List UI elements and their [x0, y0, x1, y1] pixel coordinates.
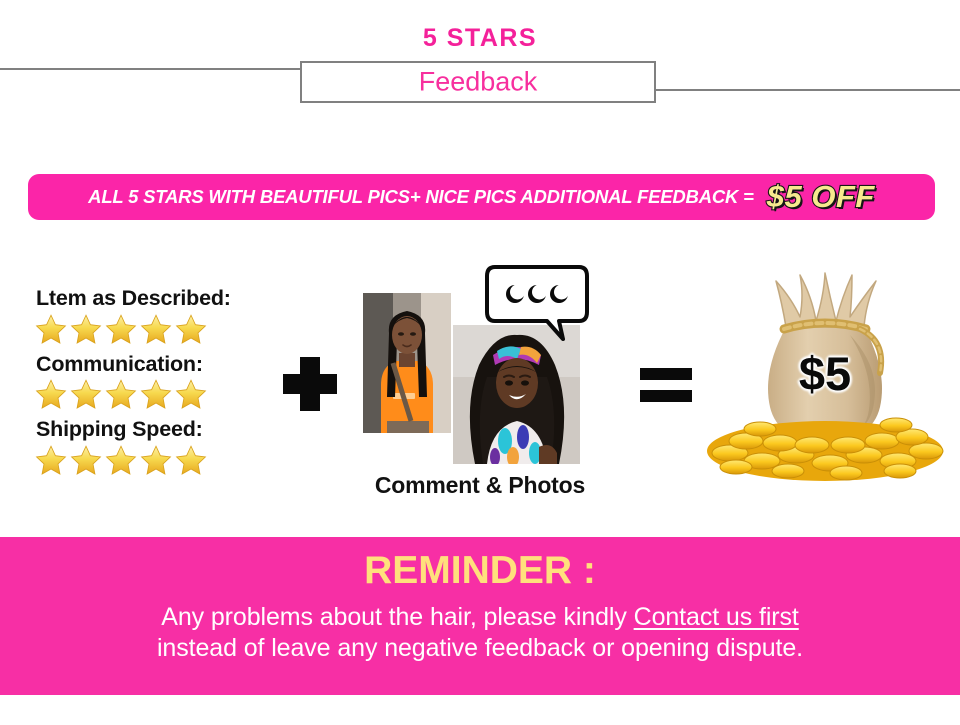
contact-us-first-emphasis: Contact us first — [634, 603, 799, 631]
money-bag-reward: $5 — [700, 255, 950, 485]
feedback-promo-graphic: 5 STARS Feedback ALL 5 STARS WITH BEAUTI… — [0, 0, 960, 725]
promo-banner-text: ALL 5 STARS WITH BEAUTIFUL PICS+ NICE PI… — [88, 186, 754, 208]
star-icon — [139, 378, 173, 411]
collage-caption: Comment & Photos — [330, 472, 630, 499]
photo-collage — [355, 285, 595, 475]
star-icon — [34, 313, 68, 346]
star-icon — [34, 378, 68, 411]
reminder-line-1: Any problems about the hair, please kind… — [0, 602, 960, 633]
header-eyebrow: 5 STARS — [0, 26, 960, 51]
promo-banner-offer: $5 OFF — [767, 179, 875, 215]
reminder-section: REMINDER : Any problems about the hair, … — [0, 537, 960, 695]
header-rule-right — [654, 89, 960, 91]
star-icon — [174, 313, 208, 346]
star-rating — [34, 444, 286, 477]
star-icon — [139, 444, 173, 477]
reminder-line-2: instead of leave any negative feedback o… — [0, 633, 960, 664]
star-icon — [104, 313, 138, 346]
rating-row: Ltem as Described: — [36, 286, 286, 346]
star-icon — [69, 378, 103, 411]
equals-bar-top — [640, 368, 692, 380]
photo-left-illustration — [363, 293, 451, 433]
star-rating — [34, 313, 286, 346]
star-icon — [69, 444, 103, 477]
customer-photo-left — [363, 293, 451, 433]
star-icon — [139, 313, 173, 346]
speech-bubble-shape — [485, 265, 589, 345]
ratings-list: Ltem as Described: Communication: Shippi… — [36, 286, 286, 483]
rating-label: Communication: — [36, 352, 286, 377]
promo-banner: ALL 5 STARS WITH BEAUTIFUL PICS+ NICE PI… — [28, 174, 935, 220]
star-icon — [69, 313, 103, 346]
rating-label: Ltem as Described: — [36, 286, 286, 311]
star-icon — [174, 444, 208, 477]
photo-right-illustration — [453, 325, 580, 464]
customer-photo-right — [453, 325, 580, 464]
star-icon — [174, 378, 208, 411]
star-icon — [34, 444, 68, 477]
page-title: Feedback — [302, 69, 654, 96]
star-icon — [104, 378, 138, 411]
star-rating — [34, 378, 286, 411]
header: 5 STARS Feedback — [0, 0, 960, 130]
header-rule-left — [0, 68, 302, 70]
reminder-title: REMINDER : — [0, 550, 960, 593]
rating-row: Shipping Speed: — [36, 417, 286, 477]
speech-bubble-icon — [485, 265, 589, 327]
rating-label: Shipping Speed: — [36, 417, 286, 442]
reward-amount: $5 — [700, 350, 950, 397]
equals-operator-icon — [640, 368, 692, 402]
rating-row: Communication: — [36, 352, 286, 412]
reminder-line-1-text: Any problems about the hair, please kind… — [161, 603, 633, 631]
star-icon — [104, 444, 138, 477]
header-title-box: Feedback — [300, 61, 656, 103]
equals-bar-bottom — [640, 390, 692, 402]
plus-operator-icon — [283, 357, 337, 411]
